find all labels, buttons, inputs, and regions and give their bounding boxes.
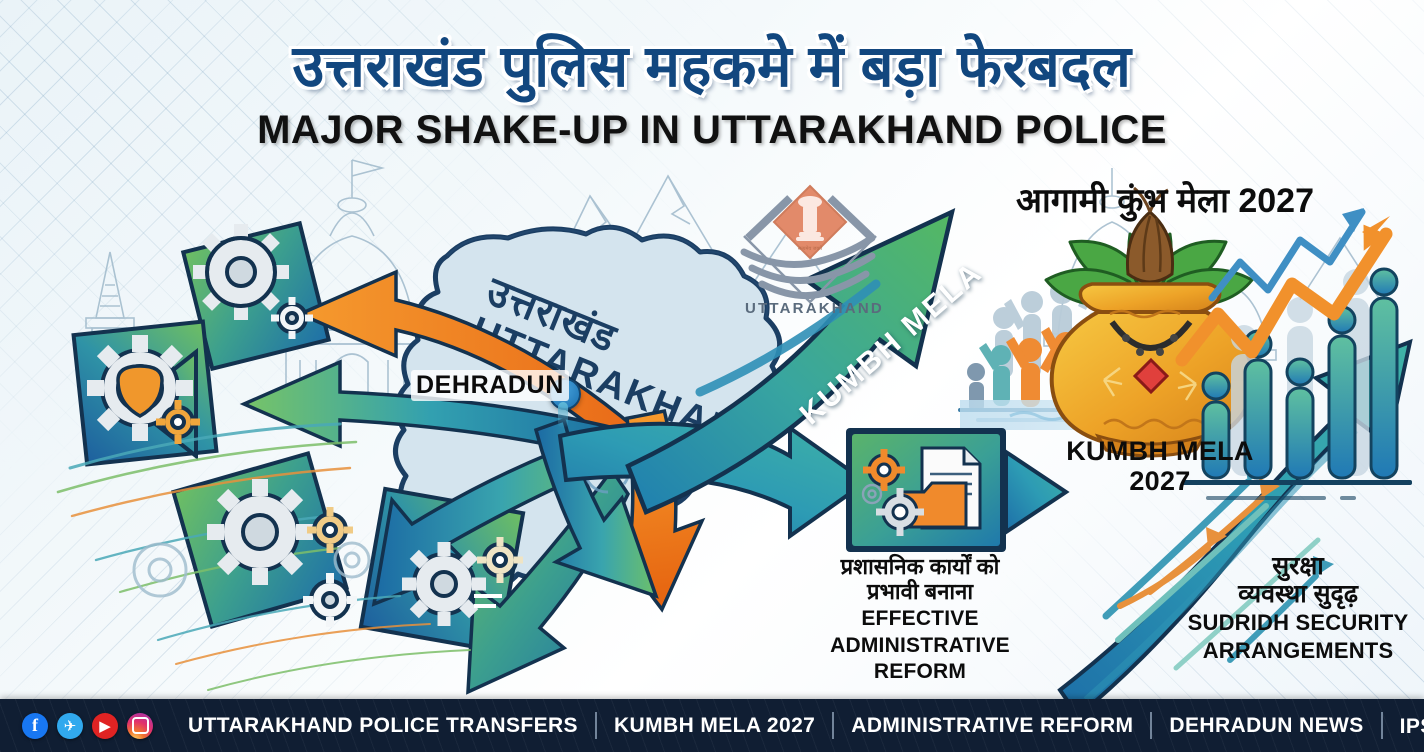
admin-reform-en-line2: ADMINISTRATIVE bbox=[790, 634, 1050, 658]
ticker-item-2[interactable]: ADMINISTRATIVE REFORM bbox=[834, 714, 1150, 738]
kumbh-caption-line2: 2027 bbox=[1020, 466, 1300, 496]
twitter-icon[interactable]: ✈ bbox=[57, 713, 83, 739]
instagram-glyph bbox=[132, 717, 149, 734]
kumbh-heading-hi: आगामी कुंभ मेला 2027 bbox=[975, 182, 1355, 220]
social-icons: f ✈ ▶ bbox=[22, 713, 153, 739]
ticker-item-3[interactable]: DEHRADUN NEWS bbox=[1152, 714, 1380, 738]
admin-reform-hi-line2: प्रभावी बनाना bbox=[790, 580, 1050, 605]
security-label: सुरक्षा व्यवस्था सुदृढ़ SUDRIDH SECURITY… bbox=[1170, 552, 1424, 663]
ticker-item-0[interactable]: UTTARAKHAND POLICE TRANSFERS bbox=[171, 714, 595, 738]
dehradun-label: DEHRADUN bbox=[411, 370, 569, 401]
facebook-icon[interactable]: f bbox=[22, 713, 48, 739]
security-en-line1: SUDRIDH SECURITY bbox=[1170, 611, 1424, 636]
kumbh-caption-line1: KUMBH MELA bbox=[1020, 436, 1300, 466]
page-title-hindi: उत्तराखंड पुलिस महकमे में बड़ा फेरबदल bbox=[0, 24, 1424, 103]
admin-reform-hi-line1: प्रशासनिक कार्यों को bbox=[790, 555, 1050, 580]
emblem-caption: UTTARAKHAND bbox=[745, 300, 875, 317]
security-hi-line2: व्यवस्था सुदृढ़ bbox=[1170, 580, 1424, 608]
kumbh-heading: आगामी कुंभ मेला 2027 bbox=[975, 182, 1355, 220]
kumbh-caption: KUMBH MELA 2027 bbox=[1020, 436, 1300, 496]
ticker-separator bbox=[595, 712, 597, 739]
ticker-separator bbox=[1381, 712, 1383, 739]
ticker-item-1[interactable]: KUMBH MELA 2027 bbox=[597, 714, 832, 738]
admin-reform-en-line3: REFORM bbox=[790, 660, 1050, 684]
instagram-icon[interactable] bbox=[127, 713, 153, 739]
admin-reform-label: प्रशासनिक कार्यों को प्रभावी बनाना EFFEC… bbox=[790, 555, 1050, 684]
footer-ticker: UTTARAKHAND POLICE TRANSFERS KUMBH MELA … bbox=[171, 712, 1424, 740]
ticker-separator bbox=[1150, 712, 1152, 739]
ticker-separator bbox=[832, 712, 834, 739]
footer-bar: f ✈ ▶ UTTARAKHAND POLICE TRANSFERS KUMBH… bbox=[0, 699, 1424, 752]
dehradun-marker-beam bbox=[558, 402, 568, 428]
security-hi-line1: सुरक्षा bbox=[1170, 552, 1424, 580]
page-title-english: MAJOR SHAKE-UP IN UTTARAKHAND POLICE bbox=[0, 108, 1424, 153]
svg-text:सत्यमेव जयते: सत्यमेव जयते bbox=[798, 245, 822, 252]
ticker-item-4[interactable]: IPS तबादला सूची bbox=[1383, 712, 1424, 740]
security-en-line2: ARRANGEMENTS bbox=[1170, 639, 1424, 664]
infographic-canvas: उत्तराखंड UTTARAKHAND bbox=[0, 0, 1424, 752]
youtube-icon[interactable]: ▶ bbox=[92, 713, 118, 739]
admin-reform-en-line1: EFFECTIVE bbox=[790, 607, 1050, 631]
